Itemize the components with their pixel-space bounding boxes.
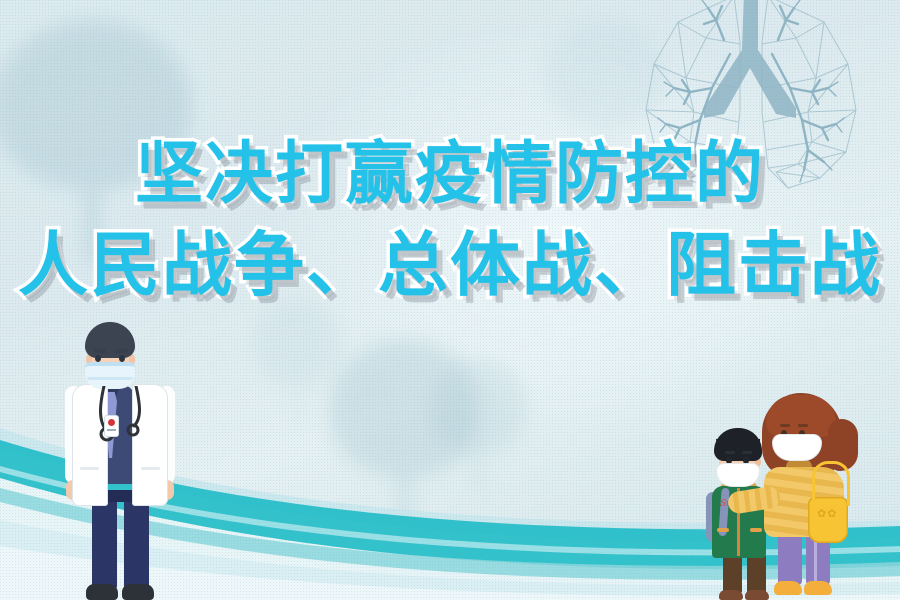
headline-line-1: 坚决打赢疫情防控的 [0,140,900,208]
boy-eye-right [743,457,749,464]
boy-pocket-left [717,528,729,532]
doctor-pants-left [92,498,117,590]
boy-eyebrow-left [725,451,735,454]
mother-handbag: ✿✿ [808,497,848,543]
mother-eyebrow-left [780,424,790,427]
doctor-character [58,322,184,600]
boy-pants-left [723,554,742,594]
headline-line-2: 人民战争、总体战、阻击战 [0,230,900,300]
doctor-shoe-left [86,584,118,600]
handbag-flower-icon: ✿✿ [817,509,837,520]
boy-eyebrow-right [742,451,752,454]
mother-shoe-right [804,581,832,595]
boy-face-mask [717,464,759,486]
page-title: 坚决打赢疫情防控的 人民战争、总体战、阻击战 [0,140,900,300]
mother-shoe-left [774,581,802,595]
stethoscope-icon [94,386,146,442]
doctor-id-badge [105,416,118,436]
doctor-eye-right [119,355,125,362]
mother-character: ✿✿ [756,393,860,600]
boy-hair [714,428,762,461]
mother-eyebrow-right [798,424,808,427]
doctor-eye-left [95,355,101,362]
mother-face-mask [773,435,821,460]
boy-shoe-left [719,590,743,600]
poster-canvas: 坚决打赢疫情防控的 人民战争、总体战、阻击战 [0,0,900,600]
doctor-pants-right [124,498,149,590]
boy-eye-left [726,457,732,464]
mother-pants-left [778,533,802,585]
doctor-shoe-right [122,584,154,600]
doctor-face-mask [85,362,135,389]
doctor-hair [85,322,135,358]
